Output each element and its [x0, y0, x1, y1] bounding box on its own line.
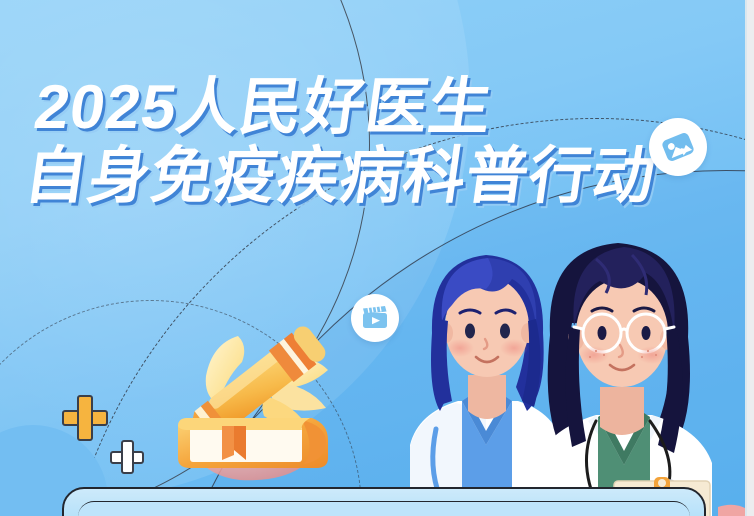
pencil-book-illustration [160, 300, 360, 500]
image-badge[interactable] [649, 118, 707, 176]
doctor-right-figure [538, 243, 712, 516]
plus-cross-orange [62, 395, 104, 437]
doctors-illustration [400, 215, 745, 516]
right-edge-strip [745, 0, 754, 516]
doctors-svg [400, 215, 745, 516]
plus-cross-white [110, 440, 140, 470]
cross-bar-vertical [121, 440, 134, 474]
image-icon [661, 130, 695, 164]
bottom-tray-inner [78, 501, 690, 516]
open-book [178, 418, 328, 468]
cross-bar-vertical [77, 395, 94, 441]
video-clapperboard-icon [360, 303, 390, 333]
pencil-book-svg [160, 300, 360, 500]
video-badge[interactable] [351, 294, 399, 342]
poster-canvas: 2025人民好医生 自身免疫疾病科普行动 [0, 0, 754, 516]
bottom-tray [62, 487, 706, 516]
poster-background: 2025人民好医生 自身免疫疾病科普行动 [0, 0, 745, 516]
